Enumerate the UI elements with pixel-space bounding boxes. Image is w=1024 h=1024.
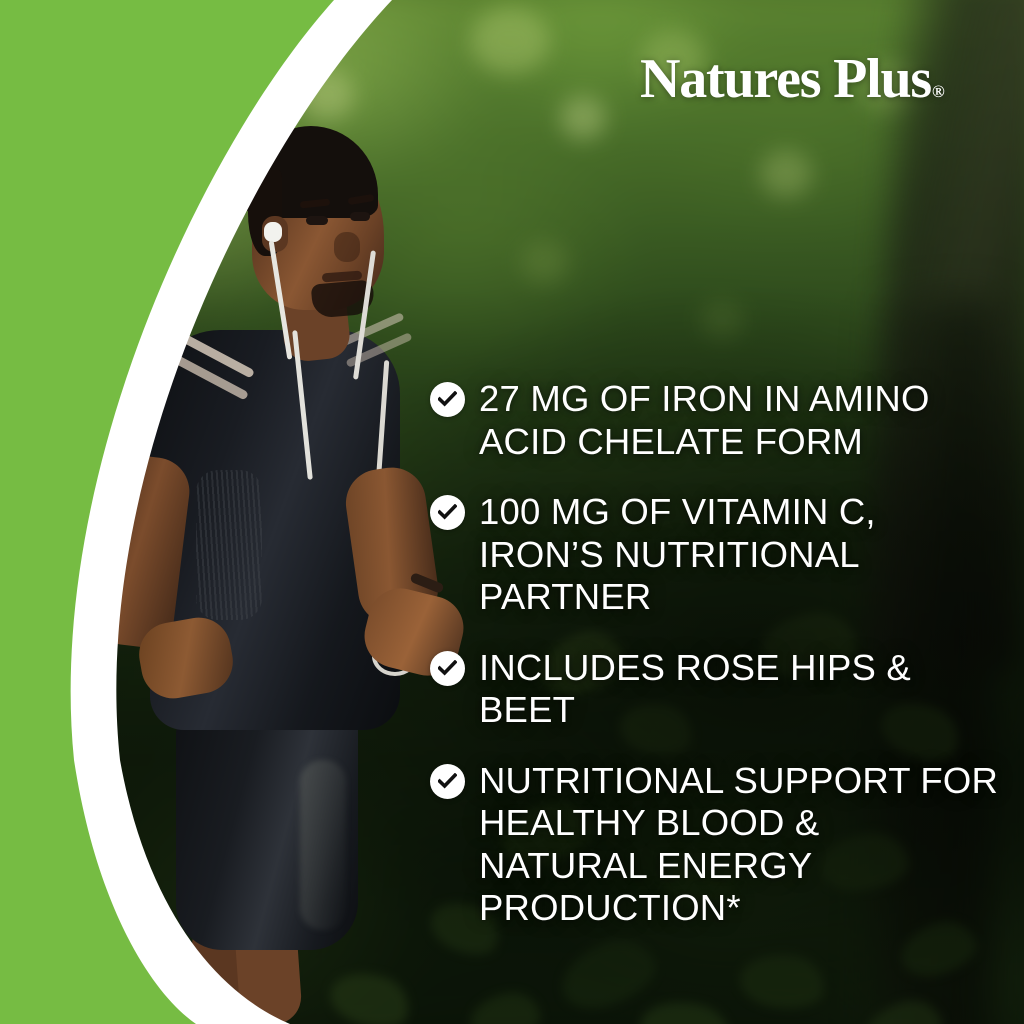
feature-bullet-text: 100 MG OF VITAMIN C, IRON’S NUTRITIONAL … <box>479 491 876 619</box>
check-circle-icon <box>430 382 465 417</box>
registered-trademark-icon: ® <box>932 82 945 101</box>
feature-bullet-item: INCLUDES ROSE HIPS & BEET <box>430 647 1008 732</box>
brand-logo-text: Natures Plus <box>640 48 931 110</box>
brand-logo: Natures Plus® <box>640 50 945 121</box>
check-circle-icon <box>430 764 465 799</box>
product-marketing-banner: Natures Plus® 27 MG OF IRON IN AMINO ACI… <box>0 0 1024 1024</box>
feature-bullet-text: NUTRITIONAL SUPPORT FOR HEALTHY BLOOD & … <box>479 760 998 930</box>
feature-bullet-list: 27 MG OF IRON IN AMINO ACID CHELATE FORM… <box>430 378 1008 958</box>
check-circle-icon <box>430 495 465 530</box>
green-panel <box>0 0 334 1024</box>
check-circle-icon <box>430 651 465 686</box>
feature-bullet-item: 27 MG OF IRON IN AMINO ACID CHELATE FORM <box>430 378 1008 463</box>
feature-bullet-text: 27 MG OF IRON IN AMINO ACID CHELATE FORM <box>479 378 930 463</box>
feature-bullet-text: INCLUDES ROSE HIPS & BEET <box>479 647 1008 732</box>
feature-bullet-item: NUTRITIONAL SUPPORT FOR HEALTHY BLOOD & … <box>430 760 1008 930</box>
feature-bullet-item: 100 MG OF VITAMIN C, IRON’S NUTRITIONAL … <box>430 491 1008 619</box>
